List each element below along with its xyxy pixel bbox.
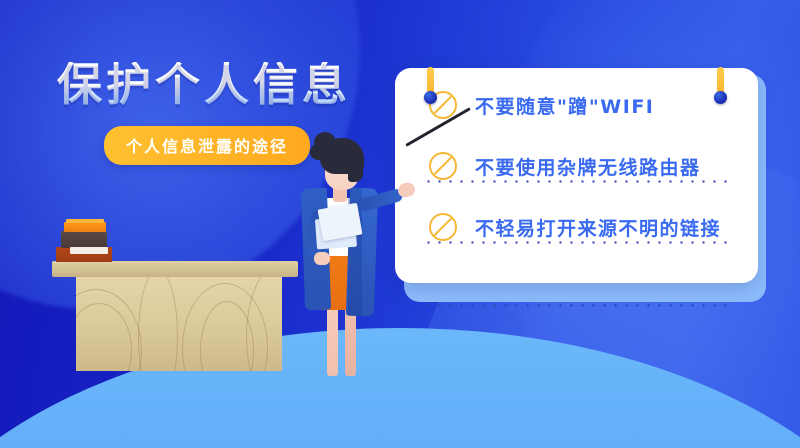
page-title: 保护个人信息 bbox=[57, 62, 351, 107]
poster-canvas: 保护个人信息 个人信息泄露的途径 bbox=[0, 0, 800, 448]
list-item-label: 不要随意"蹭"WIFI bbox=[475, 92, 654, 119]
subtitle-badge: 个人信息泄露的途径 bbox=[104, 126, 310, 165]
stacked-books bbox=[56, 219, 112, 263]
dotted-divider bbox=[423, 180, 728, 183]
book-label-band bbox=[70, 247, 108, 254]
dotted-divider bbox=[423, 304, 728, 307]
book-top-edge bbox=[66, 219, 104, 223]
podium-body bbox=[76, 277, 282, 371]
leg-left bbox=[327, 300, 338, 376]
podium-top bbox=[52, 261, 298, 277]
dotted-divider bbox=[423, 241, 728, 244]
tips-list: 不要随意"蹭"WIFI 不要使用杂牌无线路由器 不轻易打开来源不明的链接 bbox=[395, 68, 758, 283]
book-top bbox=[64, 222, 106, 232]
list-item-label: 不轻易打开来源不明的链接 bbox=[475, 214, 721, 241]
pin-head-icon bbox=[714, 91, 727, 104]
book-middle bbox=[61, 231, 107, 248]
paper-front bbox=[318, 203, 363, 241]
hand-left bbox=[314, 252, 330, 265]
title-block: 保护个人信息 个人信息泄露的途径 bbox=[57, 62, 351, 165]
list-item-label: 不要使用杂牌无线路由器 bbox=[475, 153, 701, 180]
pin-head-icon bbox=[424, 91, 437, 104]
wood-grain bbox=[246, 277, 282, 371]
wood-grain bbox=[138, 277, 178, 371]
podium bbox=[52, 261, 298, 371]
